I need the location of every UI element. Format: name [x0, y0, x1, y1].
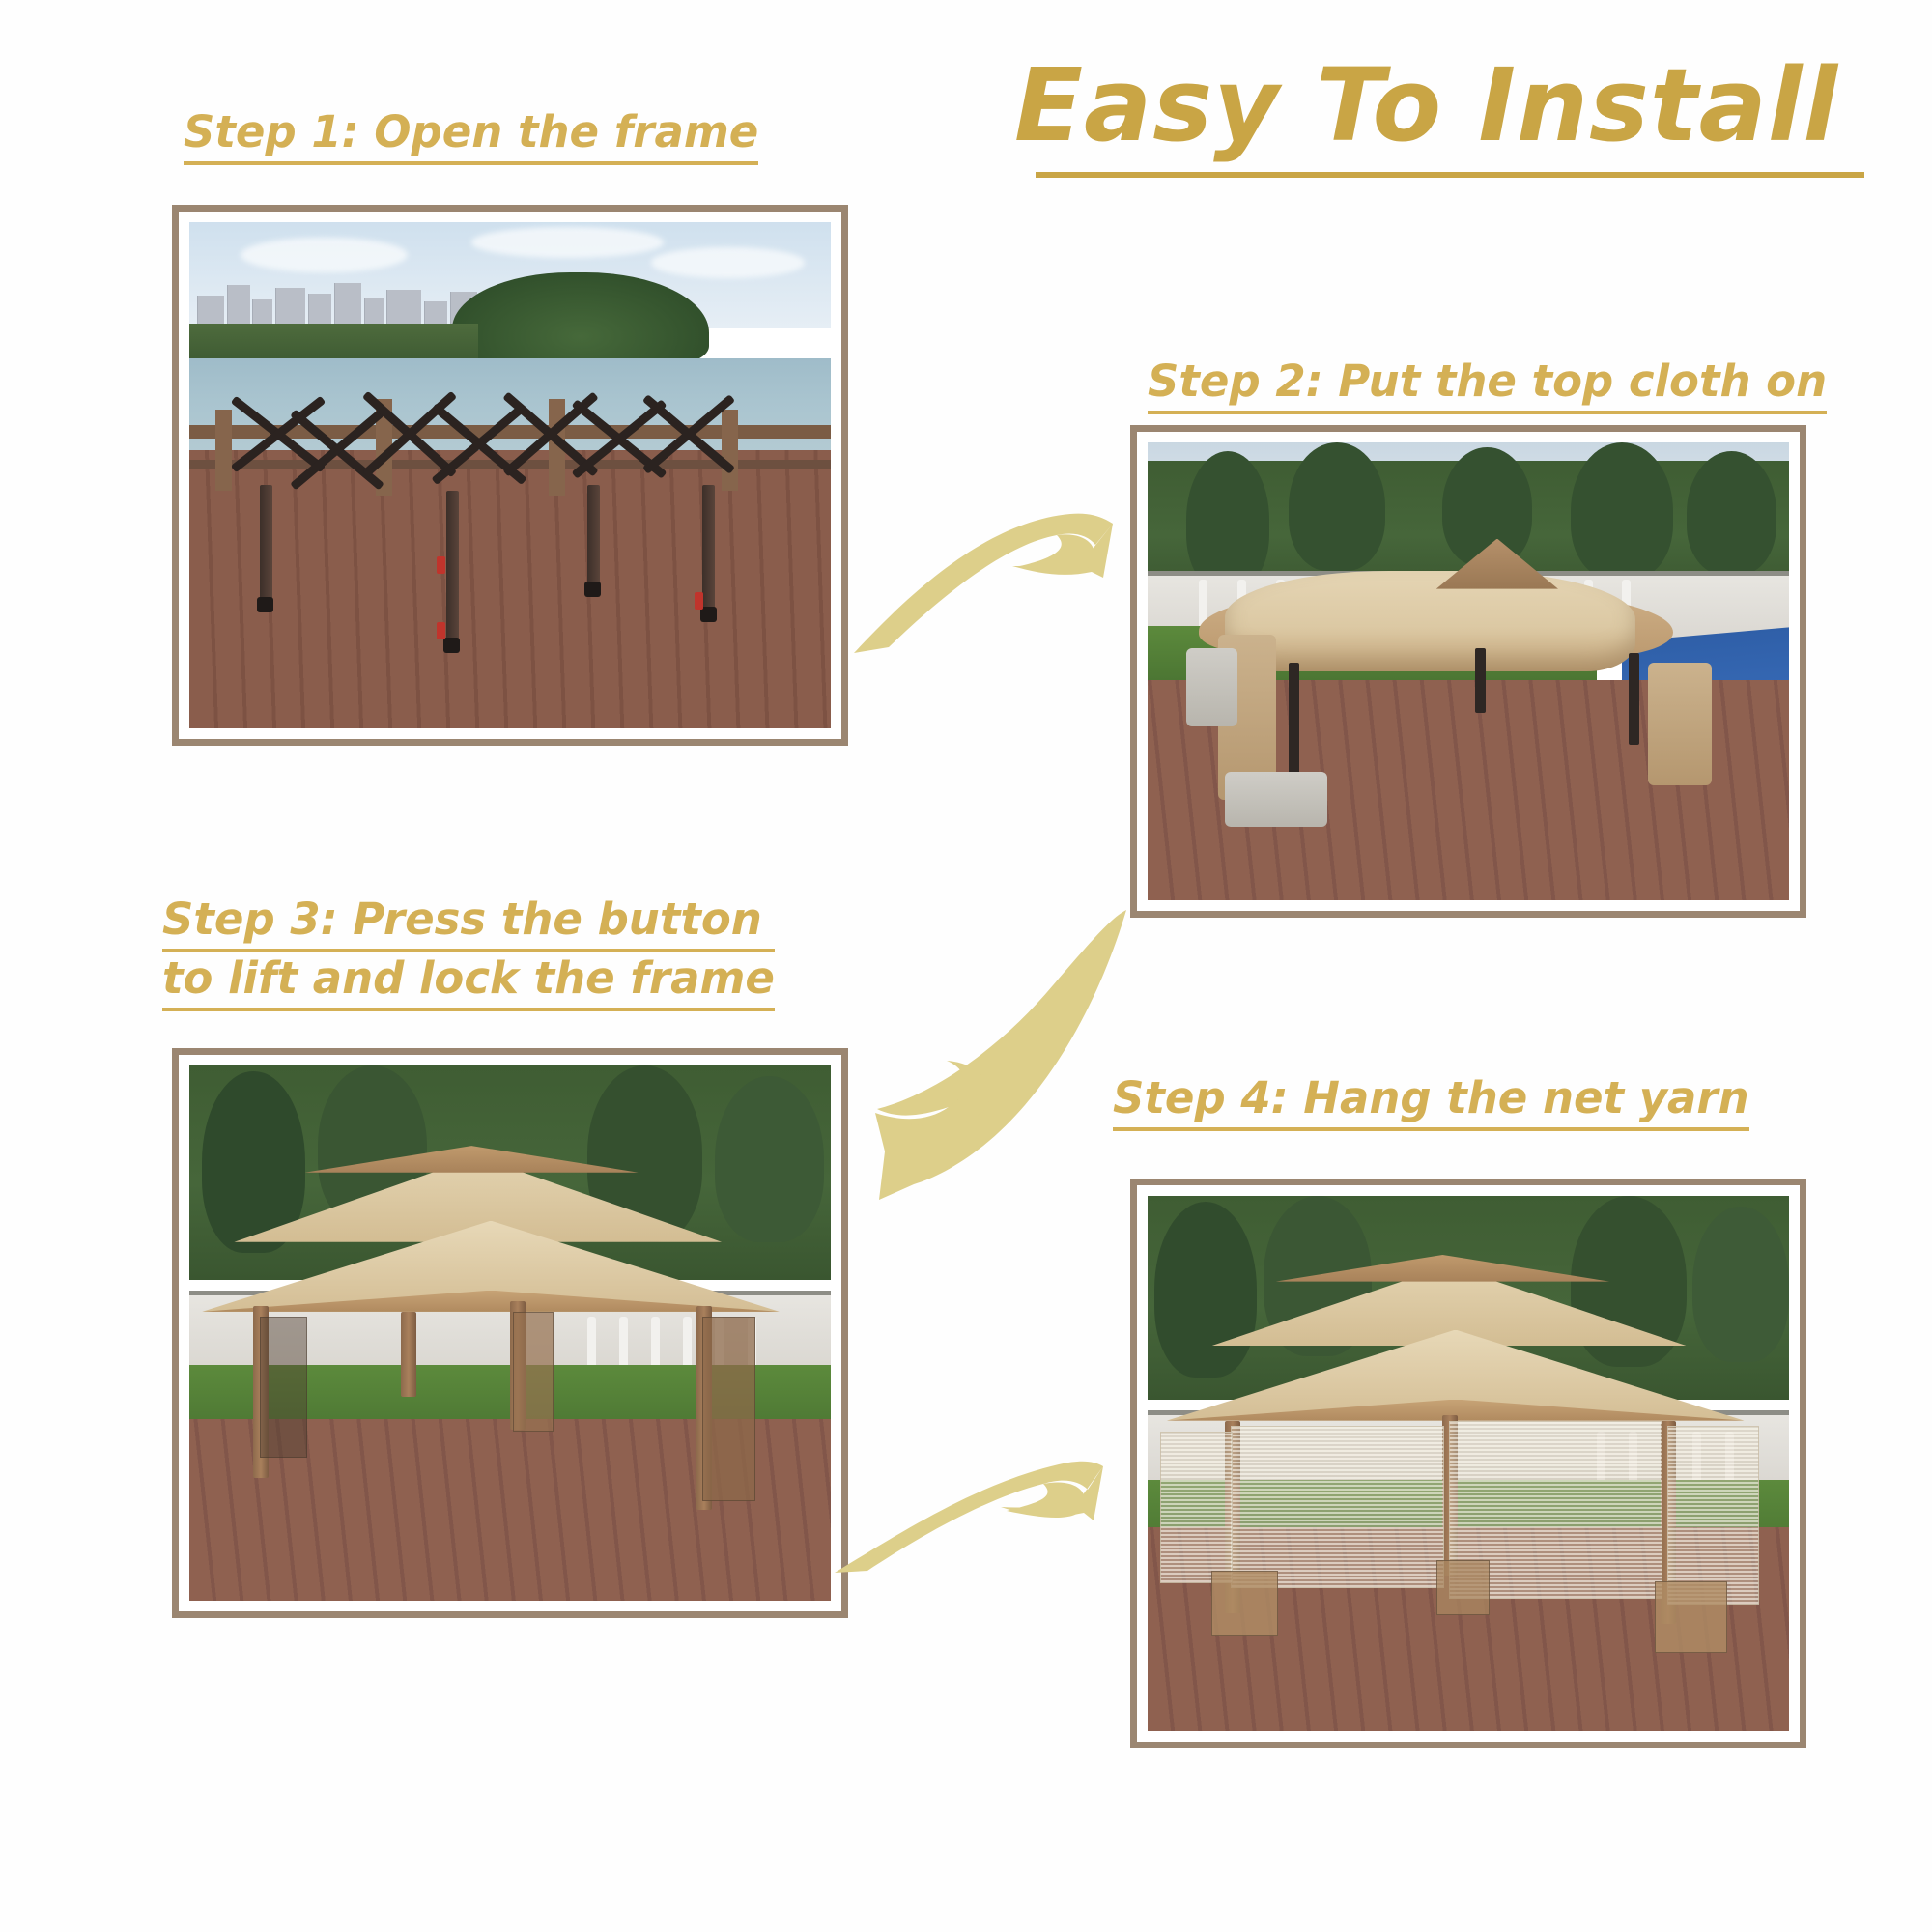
release-button [437, 622, 445, 639]
step-3-caption-line-1: Step 3: Press the button [162, 894, 775, 952]
step-3-caption: Step 3: Press the button to lift and loc… [162, 894, 775, 1011]
palm-tree [1687, 451, 1776, 575]
frame-leg [587, 485, 600, 586]
cloud [471, 227, 664, 257]
cloud [241, 238, 408, 273]
step-4-photo [1148, 1196, 1789, 1731]
fence-picket [587, 1317, 596, 1370]
net-yarn-panel [1160, 1432, 1233, 1583]
step-2-caption-line-1: Step 2: Put the top cloth on [1148, 355, 1827, 414]
packaging-bag [1225, 772, 1327, 827]
step-2-photo [1148, 442, 1789, 900]
net-yarn-gathered [1655, 1581, 1727, 1653]
flow-arrow-step3-step4 [831, 1430, 1150, 1584]
frame-foot [584, 582, 601, 597]
cloud [651, 247, 805, 277]
step-4-caption: Step 4: Hang the net yarn [1113, 1072, 1749, 1131]
net-yarn-gathered [1211, 1571, 1277, 1636]
release-button [437, 556, 445, 574]
frame-foot [443, 638, 460, 653]
corner-fabric [260, 1317, 306, 1458]
far-treeline [189, 324, 478, 364]
frame-foot [700, 607, 717, 622]
wooden-deck [189, 450, 831, 728]
gazebo-post [401, 1312, 416, 1398]
frame-leg [1289, 663, 1299, 781]
step-1-photo [189, 222, 831, 728]
palm-tree [1692, 1207, 1789, 1362]
step-3-photo-frame [172, 1048, 848, 1618]
step-3-caption-line-2: to lift and lock the frame [162, 952, 775, 1011]
palm-tree [1289, 442, 1385, 571]
fence-picket [651, 1317, 660, 1370]
step-2-caption: Step 2: Put the top cloth on [1148, 355, 1827, 414]
frame-leg [1475, 648, 1486, 712]
canopy-cloth [1225, 571, 1635, 671]
infographic-canvas: Easy To Install Step 1: Open the frame [0, 0, 1932, 1932]
palm-tree [1186, 451, 1269, 588]
net-yarn-panel [1231, 1426, 1444, 1588]
frame-foot [257, 597, 273, 612]
net-yarn-panel [1667, 1426, 1759, 1605]
frame-leg [446, 491, 459, 642]
frame-leg [1629, 653, 1639, 745]
flow-arrow-step2-step3 [821, 889, 1140, 1207]
palm-tree [1571, 442, 1673, 580]
step-1-caption: Step 1: Open the frame [184, 106, 758, 165]
hanging-cloth [1648, 663, 1712, 786]
railing-post [215, 410, 232, 491]
page-title: Easy To Install [1014, 50, 1864, 160]
railing-post [722, 410, 738, 491]
frame-leg [702, 485, 715, 611]
step-3-photo [189, 1065, 831, 1601]
step-1-caption-line-1: Step 1: Open the frame [184, 106, 758, 165]
page-title-underline [1036, 172, 1864, 178]
palm-tree [1154, 1202, 1257, 1378]
release-button [695, 592, 703, 610]
palm-tree [715, 1076, 824, 1242]
step-2-photo-frame [1130, 425, 1806, 918]
step-1-photo-frame [172, 205, 848, 746]
fence-picket [619, 1317, 628, 1370]
packaging-bag [1186, 648, 1237, 726]
corner-fabric [513, 1312, 554, 1432]
net-yarn-gathered [1436, 1560, 1490, 1615]
frame-leg [260, 485, 272, 602]
step-4-caption-line-1: Step 4: Hang the net yarn [1113, 1072, 1749, 1131]
corner-fabric [702, 1317, 755, 1500]
fence-picket [683, 1317, 692, 1370]
flow-arrow-step1-step2 [850, 502, 1159, 657]
step-4-photo-frame [1130, 1179, 1806, 1748]
